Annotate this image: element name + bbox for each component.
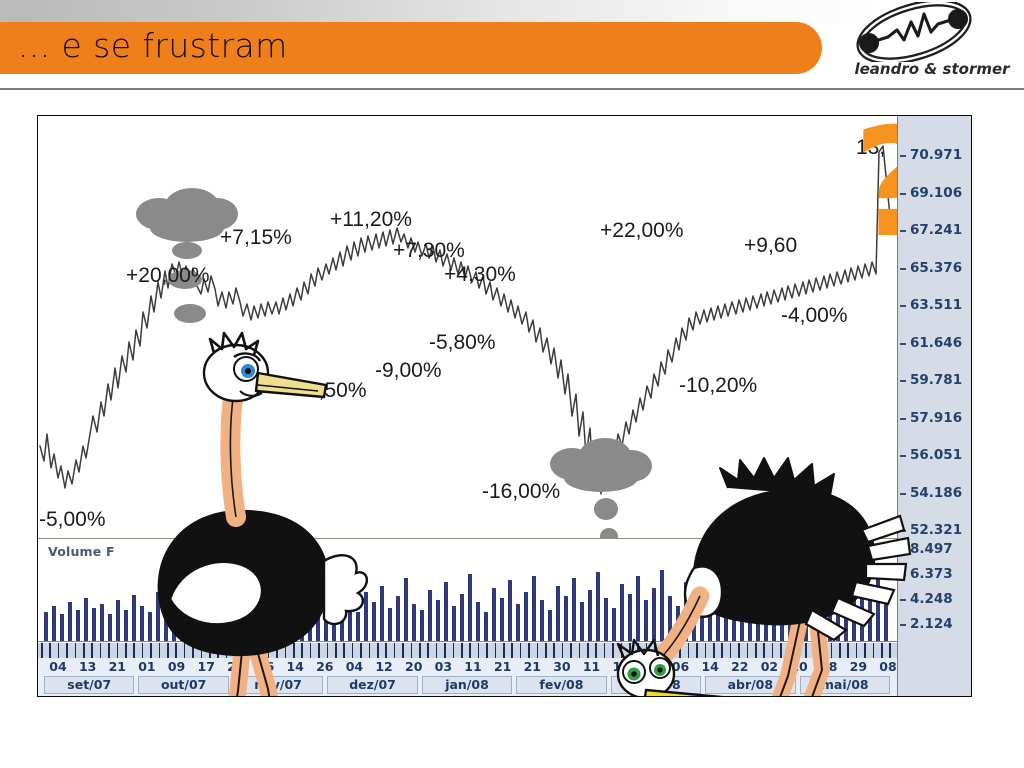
month-label[interactable]: jan/08 [422, 676, 512, 694]
ruler-tick [511, 643, 513, 658]
annotation-label: +7,30% [393, 239, 465, 263]
ruler-tick [394, 643, 396, 658]
ruler-tick [562, 643, 564, 658]
ruler-tick [503, 643, 505, 658]
price-tick-label: 61.646 [910, 335, 962, 351]
annotation-label: -9,00% [375, 359, 442, 383]
brand-name: leandro & stormer [852, 60, 1012, 78]
ruler-tick [587, 643, 589, 658]
price-tick-label: 56.051 [910, 447, 962, 463]
price-tick-label: 52.321 [910, 522, 962, 538]
price-tick-label: 65.376 [910, 260, 962, 276]
price-tick-label: 70.971 [910, 147, 962, 163]
volume-tick-label: 4.248 [910, 591, 953, 607]
ruler-tick [595, 643, 597, 658]
price-tick-label: 69.106 [910, 185, 962, 201]
price-tick: 70.971 [898, 156, 971, 157]
ruler-tick [528, 643, 530, 658]
annotation-label: +11,20% [330, 208, 412, 232]
annotation-label: +7,15% [220, 226, 292, 250]
chart-inner: -5,00% +20,00% +7,15% -9,50% +11,20% +7,… [38, 116, 971, 696]
annotation-label: +9,60 [744, 234, 797, 258]
bubble-dot [594, 498, 618, 520]
day-tick-label: 20 [405, 659, 422, 674]
ruler-tick [570, 643, 572, 658]
ruler-tick [41, 643, 43, 658]
ruler-tick [436, 643, 438, 658]
price-tick-label: 59.781 [910, 372, 962, 388]
ruler-tick [545, 643, 547, 658]
annotation-label: -5,80% [429, 331, 496, 355]
ruler-tick [108, 643, 110, 658]
annotation-label: +20,00% [126, 264, 210, 288]
ruler-tick [377, 643, 379, 658]
ruler-tick [612, 643, 614, 658]
tick-dash [900, 268, 906, 270]
day-tick-label: 12 [375, 659, 392, 674]
page-header: ... e se frustram leandro & stormer [0, 0, 1024, 96]
price-tick: 59.781 [898, 381, 971, 382]
ruler-tick [427, 643, 429, 658]
annotation-label: -16,00% [482, 480, 560, 504]
annotation-label: -4,00% [781, 304, 848, 328]
ruler-tick [520, 643, 522, 658]
ruler-tick [537, 643, 539, 658]
ruler-tick [495, 643, 497, 658]
ruler-tick [58, 643, 60, 658]
ruler-tick [385, 643, 387, 658]
ruler-tick [402, 643, 404, 658]
day-tick-label: 11 [464, 659, 481, 674]
day-tick-label: 03 [435, 659, 452, 674]
day-tick-label: 21 [494, 659, 511, 674]
ruler-tick [553, 643, 555, 658]
tick-dash [900, 305, 906, 307]
ruler-tick [419, 643, 421, 658]
ostrich-standing-illustration [118, 311, 368, 696]
tick-dash [900, 230, 906, 232]
day-tick-label: 04 [49, 659, 66, 674]
ruler-tick [478, 643, 480, 658]
day-tick-label: 21 [524, 659, 541, 674]
ruler-tick [469, 643, 471, 658]
month-label[interactable]: fev/08 [516, 676, 606, 694]
volume-tick-label: 2.124 [910, 616, 953, 632]
volume-panel-label: Volume F [48, 544, 115, 559]
tick-dash [900, 193, 906, 195]
tick-dash [900, 343, 906, 345]
header-divider [0, 88, 1024, 90]
ruler-tick [49, 643, 51, 658]
ruler-tick [369, 643, 371, 658]
ruler-tick [453, 643, 455, 658]
annotation-label: +22,00% [600, 219, 684, 243]
price-tick-label: 67.241 [910, 222, 962, 238]
annotation-label: -10,20% [679, 374, 757, 398]
price-tick: 69.106 [898, 194, 971, 195]
question-mark-marker[interactable]: ? [853, 129, 899, 264]
price-tick: 67.241 [898, 231, 971, 232]
annotation-label: +4,30% [444, 263, 516, 287]
price-tick-label: 57.916 [910, 410, 962, 426]
ruler-tick [83, 643, 85, 658]
day-tick-label: 11 [583, 659, 600, 674]
ruler-tick [411, 643, 413, 658]
ruler-tick [100, 643, 102, 658]
ruler-tick [579, 643, 581, 658]
volume-tick-label: 6.373 [910, 566, 953, 582]
tick-dash [900, 155, 906, 157]
day-tick-label: 30 [553, 659, 570, 674]
ruler-tick [66, 643, 68, 658]
price-tick-label: 63.511 [910, 297, 962, 313]
page-title: ... e se frustram [18, 26, 288, 65]
tick-dash [900, 380, 906, 382]
ruler-tick [75, 643, 77, 658]
price-tick: 61.646 [898, 344, 971, 345]
price-tick: 65.376 [898, 269, 971, 270]
ostrich-head-in-sand-illustration [616, 446, 916, 696]
cloud-lobe [150, 214, 224, 242]
bubble-dot [172, 242, 202, 259]
ruler-tick [444, 643, 446, 658]
ellipse-chart-logo-icon [850, 2, 978, 62]
brand-logo: leandro & stormer [846, 2, 1018, 88]
annotation-label: -5,00% [39, 508, 106, 532]
tick-dash [900, 418, 906, 420]
chart-container[interactable]: -5,00% +20,00% +7,15% -9,50% +11,20% +7,… [37, 115, 972, 697]
price-tick: 57.916 [898, 419, 971, 420]
ruler-tick [486, 643, 488, 658]
ruler-tick [91, 643, 93, 658]
day-tick-label: 13 [79, 659, 96, 674]
volume-tick-label: 8.497 [910, 541, 953, 557]
ruler-tick [461, 643, 463, 658]
price-tick: 63.511 [898, 306, 971, 307]
price-tick-label: 54.186 [910, 485, 962, 501]
ruler-tick [604, 643, 606, 658]
